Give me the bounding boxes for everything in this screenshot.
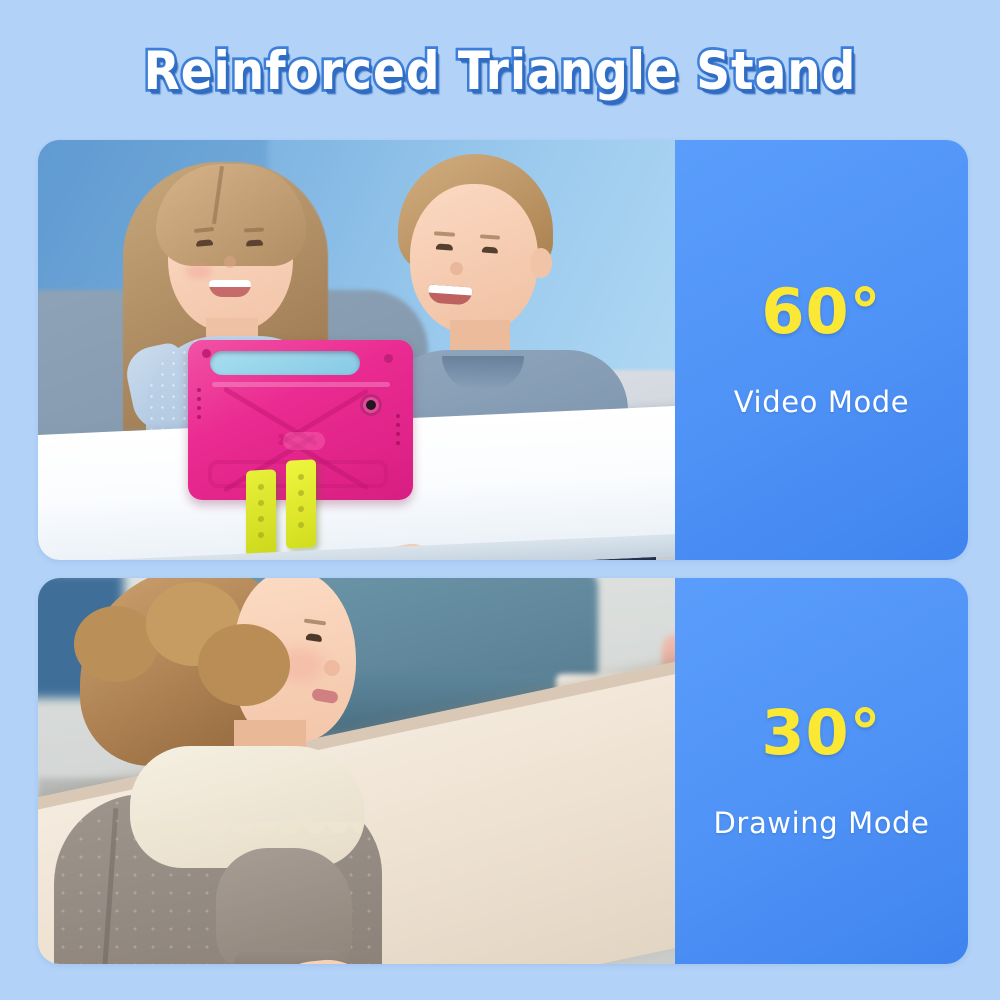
speaker-holes (396, 414, 400, 444)
mode-label: Drawing Mode (713, 806, 929, 840)
mode-label: Video Mode (734, 385, 909, 419)
speaker-holes (197, 388, 201, 418)
angle-value: 30° (761, 702, 881, 764)
girl2-hair-curl (198, 624, 290, 706)
case-ridge (212, 382, 390, 387)
girl2-nose (324, 660, 340, 676)
girl2-hair-curl (74, 606, 158, 682)
girl-cheek (186, 264, 212, 279)
case-ridge-center (283, 432, 325, 450)
photo-video-mode (38, 140, 675, 560)
boy-nose (450, 262, 463, 275)
feature-card-drawing-mode: 30° Drawing Mode (38, 578, 968, 964)
photo-drawing-mode (38, 578, 675, 964)
title-bar: Reinforced Triangle Stand (0, 36, 1000, 106)
girl-nose (224, 256, 236, 268)
info-panel-video-mode: 60° Video Mode (675, 140, 968, 560)
girl-eye-right (246, 240, 263, 247)
boy-eye-left (436, 243, 453, 250)
info-panel-drawing-mode: 30° Drawing Mode (675, 578, 968, 964)
product-feature-page: Reinforced Triangle Stand (0, 0, 1000, 1000)
boy-eye-right (482, 246, 498, 253)
case-screw-hole (202, 349, 211, 358)
boy-head (410, 184, 538, 334)
girl-mouth (209, 280, 251, 297)
kickstand-leg-right (286, 459, 316, 549)
boy-ear (530, 248, 552, 278)
kickstand-leg-left (246, 469, 276, 557)
camera-lens (366, 400, 376, 410)
case-handle-cutout (210, 351, 360, 375)
girl-teeth (209, 280, 251, 287)
case-screw-hole (384, 354, 393, 363)
girl-hair-top (156, 164, 306, 266)
page-title: Reinforced Triangle Stand (144, 40, 857, 102)
girl2-sleeve (216, 848, 352, 964)
feature-card-video-mode: 60° Video Mode (38, 140, 968, 560)
angle-value: 60° (761, 281, 881, 343)
boy-teeth (428, 284, 472, 295)
